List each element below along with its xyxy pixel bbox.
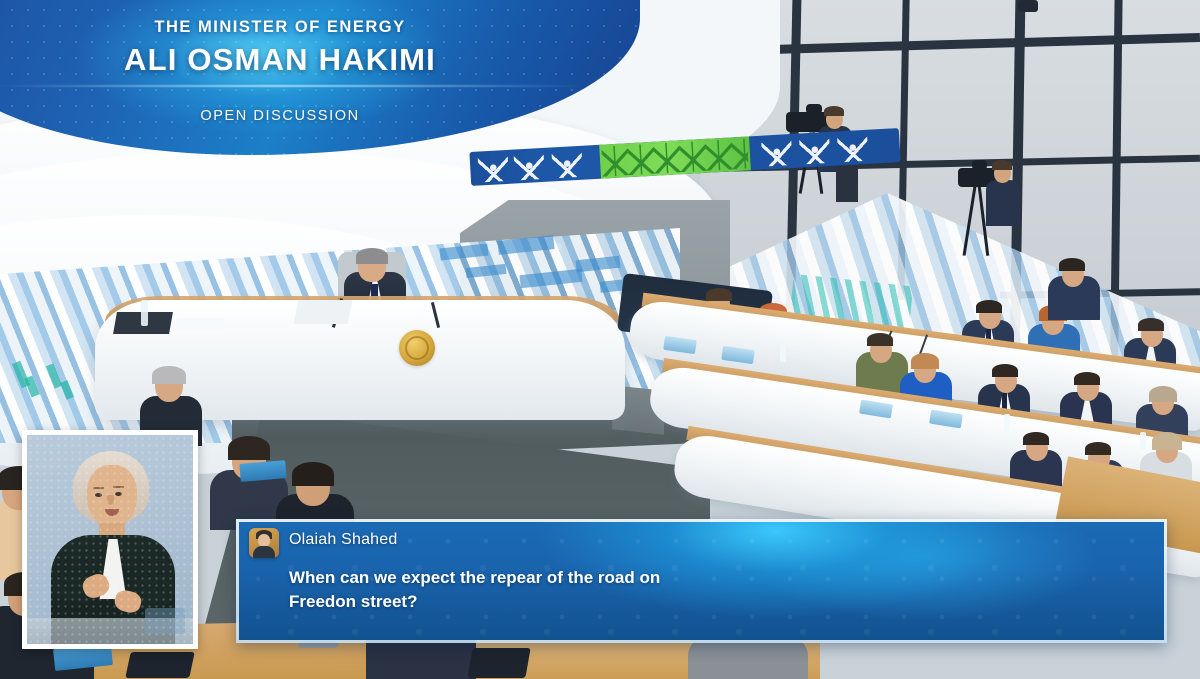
attendee-hair — [867, 333, 893, 346]
sign-language-interpreter-pip[interactable] — [22, 430, 198, 649]
water-bottle — [780, 344, 786, 362]
geometric-motif-icon — [513, 151, 545, 181]
geometric-motif-icon — [799, 135, 831, 165]
attendee-hair — [1085, 442, 1111, 455]
interpreter-arm — [128, 572, 178, 612]
program-subtitle: OPEN DISCUSSION — [0, 108, 560, 124]
minister-role-label: THE MINISTER OF ENERGY — [0, 18, 560, 37]
paper-documents — [175, 318, 226, 330]
equipment-stand — [836, 162, 858, 202]
interpreter-mouth — [105, 509, 119, 516]
question-line-2: Freedon street? — [289, 590, 909, 614]
attendee-hair — [1074, 372, 1100, 385]
geometric-motif-icon — [761, 137, 793, 167]
viewer-question-overlay[interactable]: Olaiah Shahed When can we expect the rep… — [236, 519, 1167, 643]
attendee-hair — [911, 353, 939, 369]
water-bottle — [141, 300, 148, 326]
attendee-hair — [1149, 386, 1177, 402]
water-bottle — [1004, 414, 1010, 432]
interpreter-face — [87, 465, 137, 527]
interpreter-arm — [50, 567, 99, 605]
pip-desk — [27, 618, 193, 644]
interpreter-eye — [115, 492, 122, 496]
speaker-hair — [356, 248, 388, 264]
interpreter-blouse — [97, 539, 129, 599]
geometric-motif-icon — [478, 153, 510, 183]
pip-video-feed — [27, 435, 193, 644]
minister-name: ALI OSMAN HAKIMI — [0, 42, 560, 78]
user-avatar-icon — [249, 528, 279, 558]
lower-third-title-banner: THE MINISTER OF ENERGY ALI OSMAN HAKIMI … — [0, 0, 640, 155]
operator-body — [986, 180, 1020, 226]
interpreter-eyebrow — [93, 487, 104, 489]
question-panel: Olaiah Shahed When can we expect the rep… — [239, 522, 1164, 640]
attendee-hair — [992, 364, 1018, 377]
attendee-hair — [292, 462, 334, 486]
operator-hair — [992, 160, 1012, 170]
attendee-hair — [976, 300, 1002, 313]
tablet-device — [467, 648, 530, 678]
camera-viewfinder — [806, 104, 822, 114]
interpreter-eye — [95, 493, 102, 497]
avatar-body — [253, 546, 275, 558]
state-emblem-icon — [399, 330, 435, 366]
interpreter-nose — [107, 495, 114, 505]
question-author-name: Olaiah Shahed — [289, 531, 397, 549]
interpreter-hand — [113, 588, 143, 615]
banner-text-group: THE MINISTER OF ENERGY ALI OSMAN HAKIMI … — [0, 18, 560, 124]
interpreter-hand — [80, 571, 112, 601]
broadcast-screen: THE MINISTER OF ENERGY ALI OSMAN HAKIMI … — [0, 0, 1200, 679]
camera-viewfinder — [972, 160, 987, 170]
attendee-hair — [152, 366, 186, 384]
laptop — [293, 300, 352, 324]
attendee-hair — [1059, 258, 1085, 271]
interpreter-torso — [51, 535, 175, 644]
attendee-hair — [1152, 432, 1182, 450]
interpreter-neck — [99, 523, 125, 543]
attendee-hair — [1023, 432, 1049, 445]
attendee-hair — [706, 288, 732, 301]
operator-hair — [824, 106, 844, 116]
question-line-1: When can we expect the repear of the roa… — [289, 566, 909, 590]
question-text: When can we expect the repear of the roa… — [289, 566, 909, 614]
interpreter-eyebrow — [113, 486, 124, 488]
attendee-hair — [228, 436, 270, 460]
interpreter-hair — [73, 451, 149, 523]
water-bottle — [1140, 432, 1146, 450]
tablet-device — [125, 652, 195, 678]
pip-monitor — [145, 608, 185, 634]
attendee-hair — [1138, 318, 1164, 331]
geometric-motif-icon — [837, 133, 869, 163]
ceiling-camera-icon — [1018, 0, 1038, 12]
